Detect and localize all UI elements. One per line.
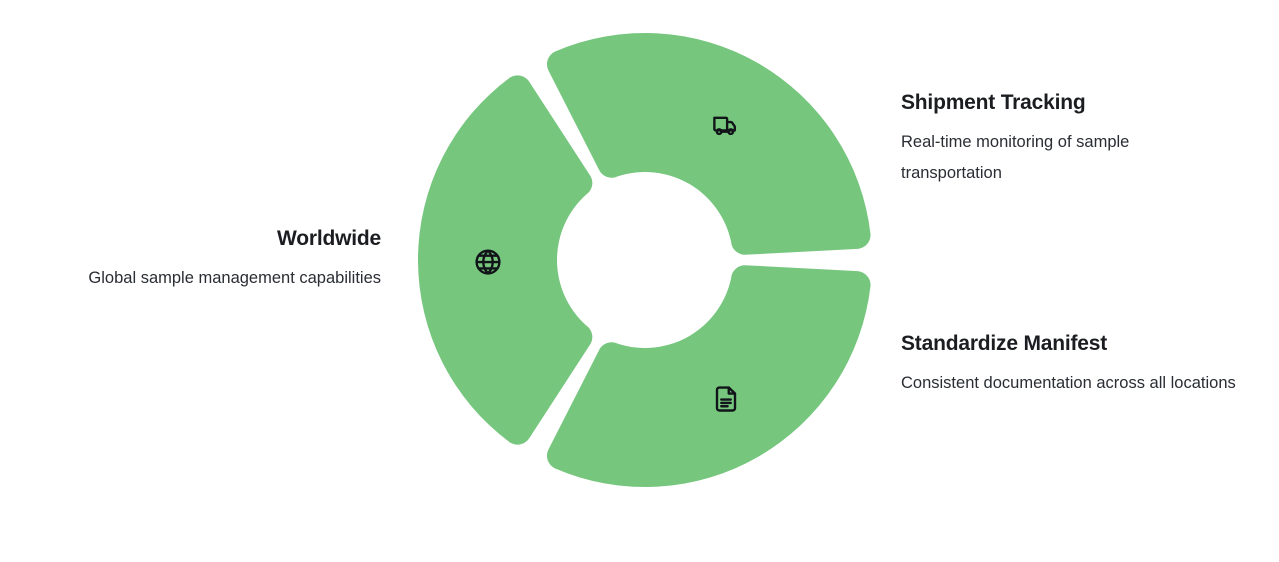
donut-segment-shipment-tracking[interactable] [547, 33, 871, 255]
callout-title-worldwide: Worldwide [0, 226, 381, 252]
callout-description-standardize-manifest: Consistent documentation across all loca… [901, 368, 1241, 399]
callout-standardize-manifest: Standardize Manifest Consistent document… [901, 331, 1241, 399]
donut-segment-standardize-manifest[interactable] [547, 265, 871, 487]
callout-shipment-tracking: Shipment Tracking Real-time monitoring o… [901, 90, 1231, 189]
globe-icon [473, 247, 503, 277]
callout-title-shipment-tracking: Shipment Tracking [901, 90, 1231, 116]
callout-description-worldwide: Global sample management capabilities [0, 263, 381, 294]
donut-segment-worldwide[interactable] [418, 75, 592, 444]
callout-description-shipment-tracking: Real-time monitoring of sample transport… [901, 127, 1231, 189]
document-icon [711, 384, 741, 414]
donut-infographic: Shipment Tracking Real-time monitoring o… [0, 0, 1279, 562]
callout-title-standardize-manifest: Standardize Manifest [901, 331, 1241, 357]
callout-worldwide: Worldwide Global sample management capab… [0, 226, 381, 294]
truck-icon [710, 110, 740, 140]
